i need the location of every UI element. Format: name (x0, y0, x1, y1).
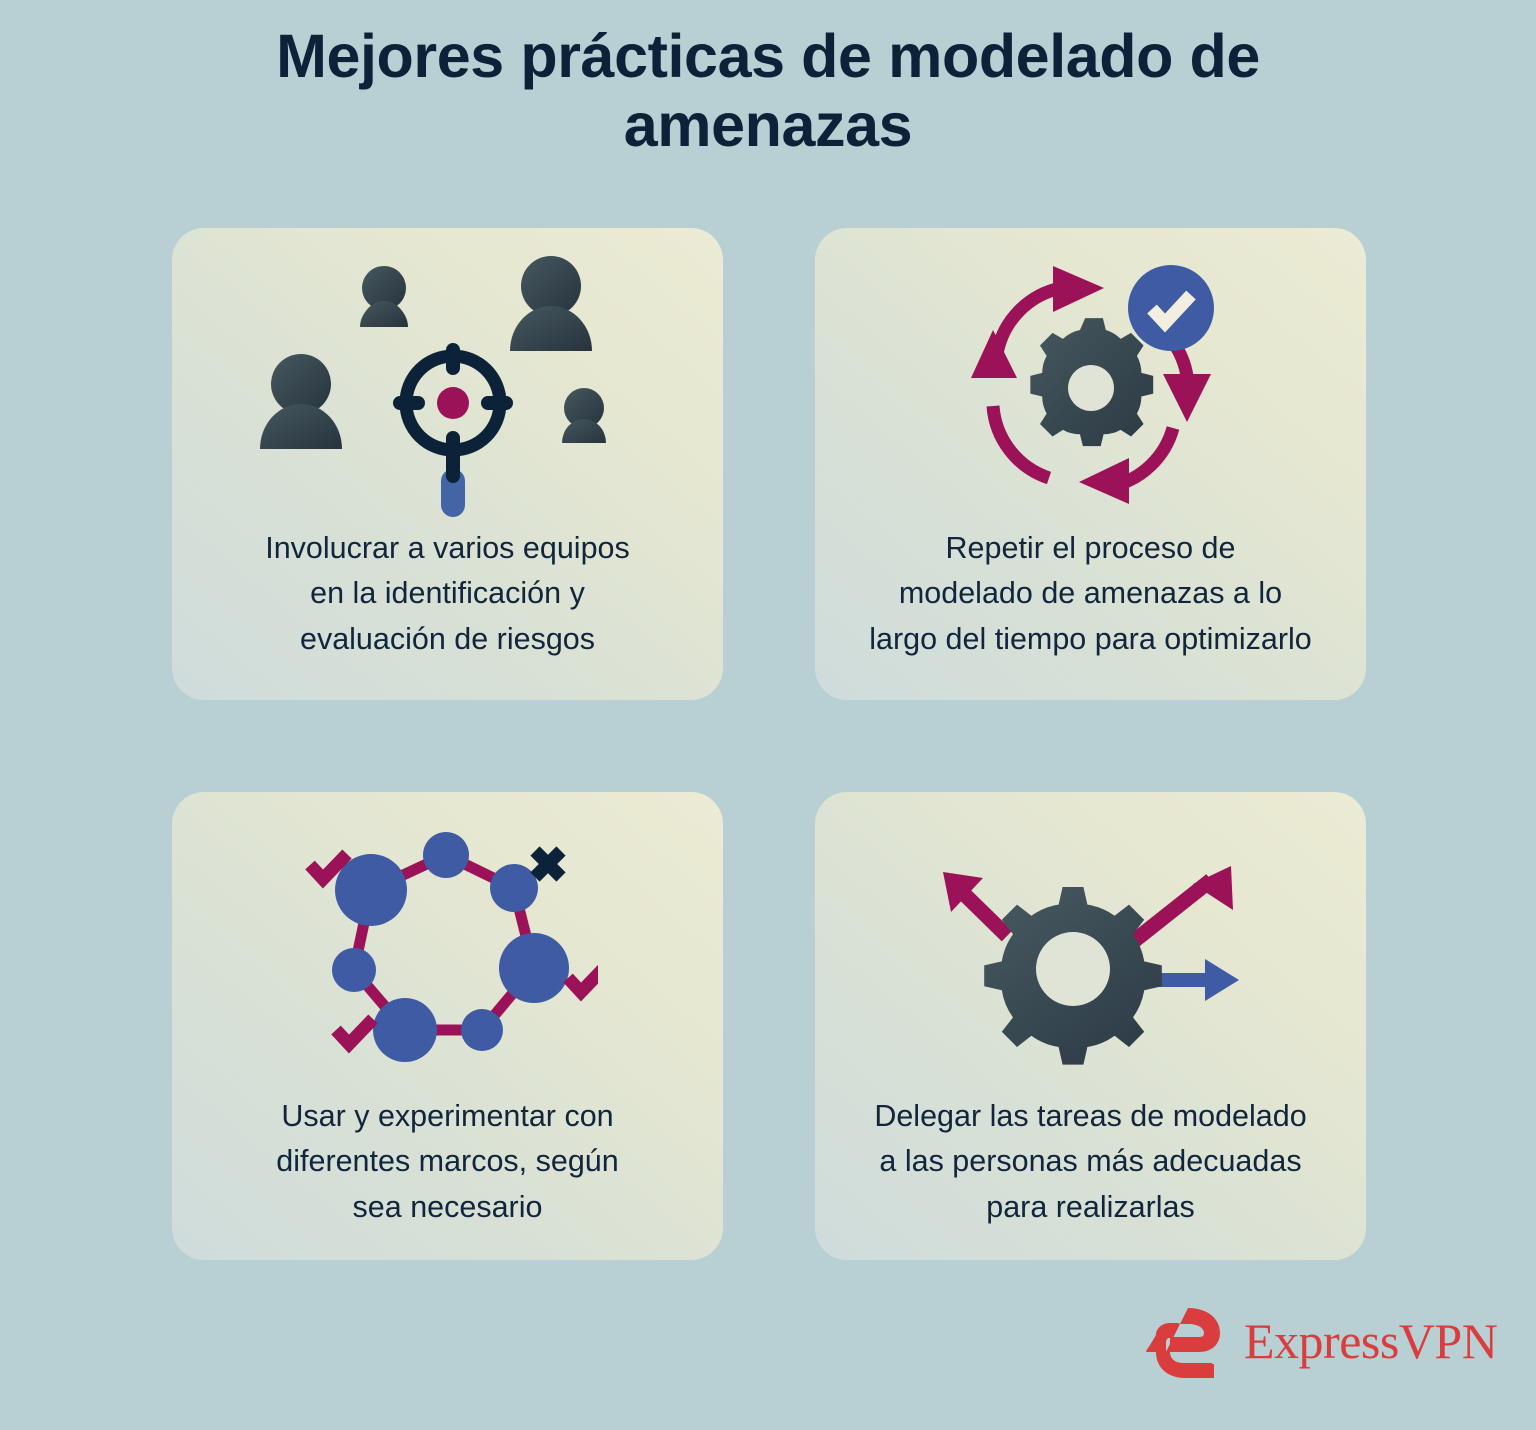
card-usar-marcos: Usar y experimentar con diferentes marco… (172, 792, 723, 1260)
gear-delegate-arrows-icon-wrap (815, 792, 1366, 1086)
cards-grid: Involucrar a varios equipos en la identi… (172, 228, 1366, 1260)
expressvpn-mark-icon (1146, 1308, 1230, 1378)
card-delegar-tareas: Delegar las tareas de modelado a las per… (815, 792, 1366, 1260)
gear-icon (984, 887, 1162, 1065)
gear-delegate-arrows-icon (921, 828, 1261, 1068)
person-silhouette-icon (510, 256, 592, 351)
arrow-up-left-icon (943, 872, 1007, 936)
framework-network-icon (298, 818, 598, 1078)
arrow-up-right-icon (1134, 866, 1233, 941)
card-involucrar-equipos: Involucrar a varios equipos en la identi… (172, 228, 723, 700)
card-caption: Usar y experimentar con diferentes marco… (276, 1094, 618, 1230)
expressvpn-wordmark: ExpressVPN (1244, 1316, 1497, 1370)
gear-icon (1030, 318, 1153, 446)
framework-network-icon-wrap (172, 792, 723, 1086)
cycle-gear-check-icon-wrap (815, 228, 1366, 528)
cycle-gear-check-icon (941, 246, 1241, 526)
card-caption: Involucrar a varios equipos en la identi… (265, 526, 630, 662)
infographic-root: Mejores prácticas de modelado de amenaza… (0, 0, 1536, 1430)
person-silhouette-icon (360, 266, 408, 327)
target-people-icon-wrap (172, 228, 723, 528)
person-silhouette-icon (562, 388, 606, 443)
card-caption: Repetir el proceso de modelado de amenaz… (869, 526, 1311, 662)
page-title: Mejores prácticas de modelado de amenaza… (150, 22, 1386, 160)
person-silhouette-icon (260, 354, 342, 449)
card-caption: Delegar las tareas de modelado a las per… (874, 1094, 1306, 1230)
x-mark-icon (535, 851, 561, 877)
target-people-icon (238, 245, 658, 525)
target-center-dot-icon (437, 387, 469, 419)
expressvpn-logo[interactable]: ExpressVPN (1146, 1308, 1497, 1378)
check-badge-icon (1128, 265, 1214, 351)
card-repetir-proceso: Repetir el proceso de modelado de amenaz… (815, 228, 1366, 700)
crosshair-icon (393, 343, 513, 483)
